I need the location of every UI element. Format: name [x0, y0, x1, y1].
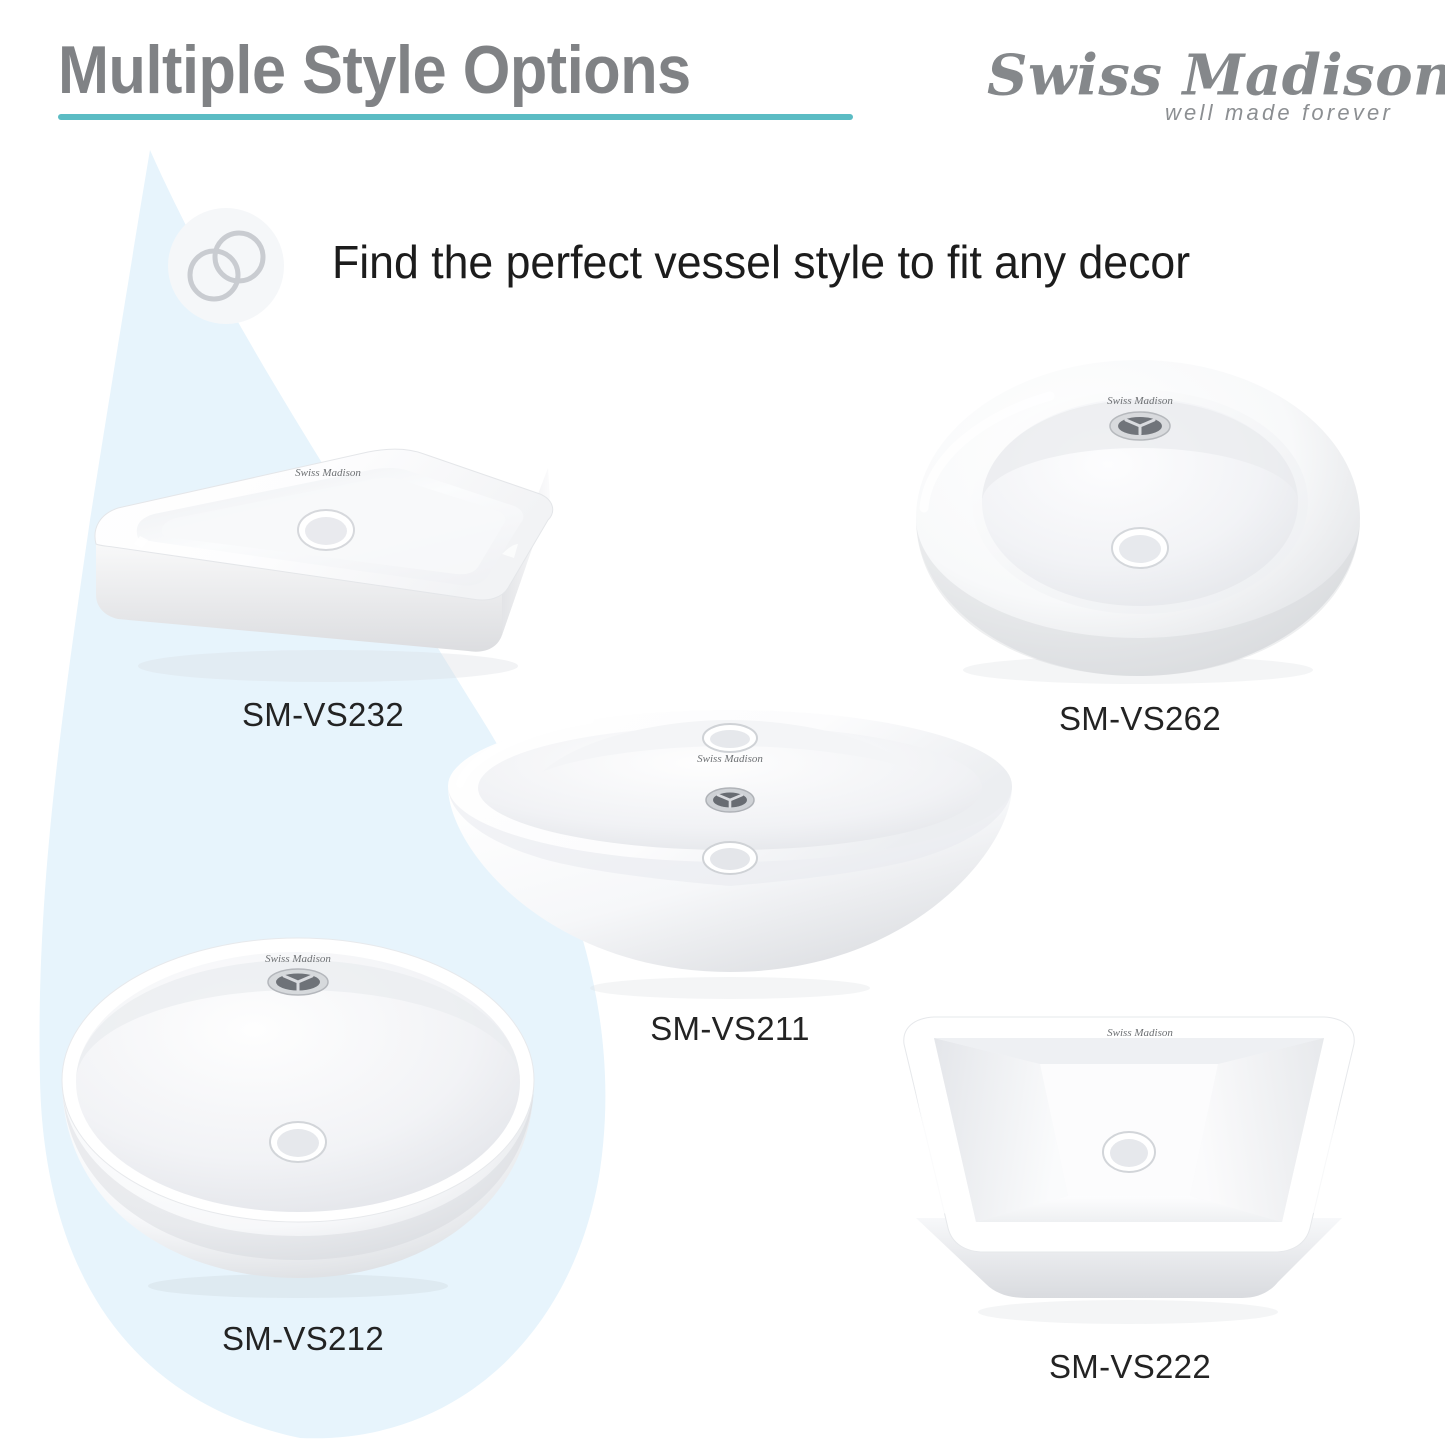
- square-vessel-sink-illustration: Swiss Madison: [78, 348, 568, 688]
- infographic-canvas: Multiple Style Options Swiss Madison® we…: [0, 0, 1445, 1445]
- brand-stamp: Swiss Madison: [697, 753, 763, 765]
- brand-stamp: Swiss Madison: [295, 467, 361, 479]
- product-caption-vs222: SM-VS222: [890, 1348, 1370, 1386]
- brand-stamp: Swiss Madison: [1107, 1027, 1173, 1039]
- brand-name: Swiss Madison: [987, 43, 1445, 109]
- page-header: Multiple Style Options Swiss Madison® we…: [0, 0, 1445, 160]
- page-title: Multiple Style Options: [58, 34, 691, 106]
- subtitle-row: Find the perfect vessel style to fit any…: [0, 205, 1445, 325]
- brand-stamp: Swiss Madison: [1107, 395, 1173, 407]
- title-underline-rule: [58, 114, 853, 120]
- round-rolled-rim-vessel-sink-illustration: Swiss Madison: [900, 352, 1380, 692]
- round-bowl-vessel-sink-illustration: Swiss Madison: [48, 930, 558, 1310]
- overlapping-circles-icon: [186, 227, 268, 305]
- subtitle-text: Find the perfect vessel style to fit any…: [332, 231, 1190, 293]
- brand-logo-wordmark: Swiss Madison®: [987, 38, 1397, 106]
- product-tile-vs232: Swiss Madison SM-VS232: [78, 348, 568, 758]
- product-tile-vs222: Swiss Madison SM-VS222: [890, 960, 1370, 1380]
- brand-stamp: Swiss Madison: [265, 953, 331, 965]
- page-title-wrap: Multiple Style Options: [58, 34, 761, 106]
- product-caption-vs212: SM-VS212: [48, 1320, 558, 1358]
- product-tile-vs212: Swiss Madison SM-VS212: [48, 930, 558, 1380]
- tapered-square-vessel-sink-illustration: Swiss Madison: [890, 960, 1370, 1330]
- brand-logo: Swiss Madison® well made forever: [987, 38, 1397, 138]
